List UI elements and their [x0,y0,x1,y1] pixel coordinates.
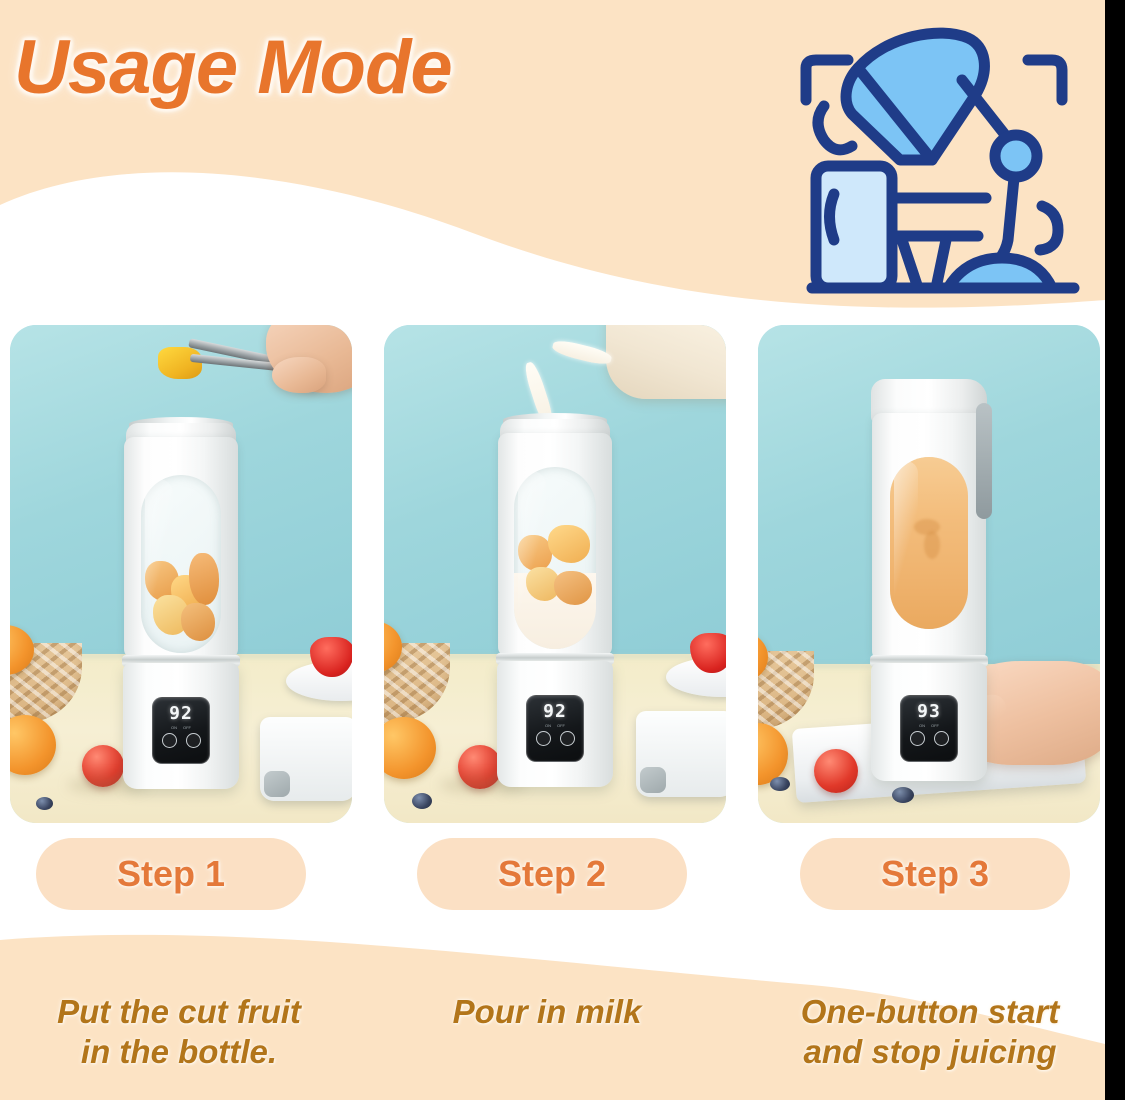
blueberry [770,777,790,791]
display-buttons[interactable] [162,733,201,748]
display-value: 92 [543,701,567,722]
fruit-chunk [181,603,215,641]
white-container [260,717,352,801]
fruit-chunk [189,553,219,605]
step-badge-label: Step 3 [881,853,989,895]
caption-line: One-button start [760,992,1100,1032]
display-buttons[interactable] [536,731,575,746]
page-title: Usage Mode [14,24,452,111]
step-caption-1: Put the cut fruit in the bottle. [14,992,344,1073]
caption-line: Put the cut fruit [14,992,344,1032]
step-badge-2[interactable]: Step 2 [417,838,687,910]
blueberry [36,797,53,810]
step-caption-3: One-button start and stop juicing [760,992,1100,1073]
step-badge-label: Step 1 [117,853,225,895]
fruit-chunk [554,571,592,605]
window-gloss [894,461,918,625]
display-value: 93 [917,701,941,722]
blender-window [514,467,596,649]
fruit-chunk [548,525,590,563]
window-gloss [145,479,173,649]
blender-display: 93 ONOFF [900,695,958,762]
window-gloss [518,471,546,645]
caption-line: in the bottle. [14,1032,344,1072]
header-band: Usage Mode [0,0,1105,330]
blueberry [412,793,432,809]
step-photo-3: 93 ONOFF [758,325,1100,823]
step-badge-3[interactable]: Step 3 [800,838,1070,910]
step-badge-1[interactable]: Step 1 [36,838,306,910]
blender-window [141,475,221,653]
step-caption-2: Pour in milk [382,992,712,1032]
display-value: 92 [169,703,193,724]
lid-handle [976,403,992,519]
caption-line: and stop juicing [760,1032,1100,1072]
mango-piece [158,347,202,379]
blender-display: 92 ONOFF [152,697,210,764]
infographic-page: Usage Mode [0,0,1125,1100]
photo-panel-row: 92 ONOFF [0,325,1105,823]
white-container [636,711,726,797]
milk-jug [606,325,726,399]
blender-window [890,457,968,629]
desk-lamp-icon [790,8,1090,308]
tomato [814,749,858,793]
step-badge-row: Step 1 Step 2 Step 3 [0,838,1105,918]
juice-swirl [924,531,940,559]
image-crop-bar [1105,0,1125,1100]
blender-display: 92 ONOFF [526,695,584,762]
hand-thumb [272,357,326,393]
step-photo-1: 92 ONOFF [10,325,352,823]
step-badge-label: Step 2 [498,853,606,895]
caption-line: Pour in milk [382,992,712,1032]
display-buttons[interactable] [910,731,949,746]
blueberry [892,787,914,803]
step-photo-2: 92 ONOFF [384,325,726,823]
